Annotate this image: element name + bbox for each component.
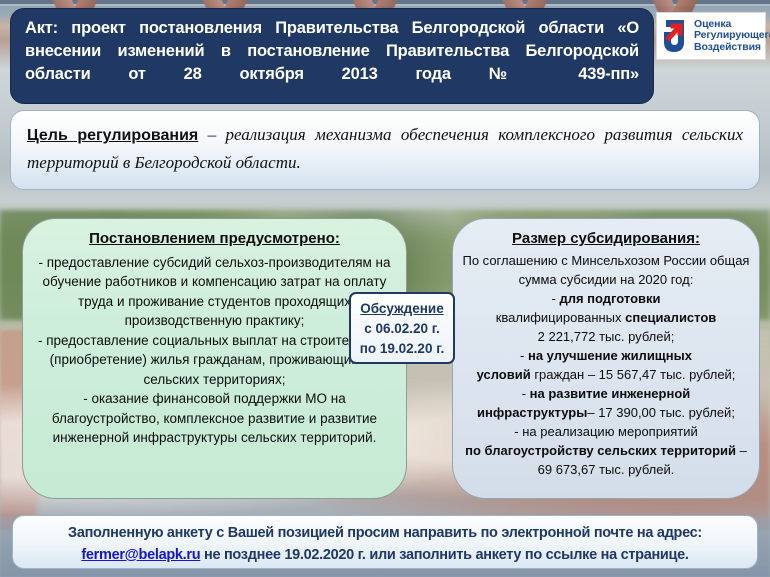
provisions-title: Постановлением предусмотрено:	[33, 229, 396, 249]
discussion-to: по 19.02.20 г.	[360, 341, 444, 356]
subsidy-entry-3: - на развитие инженерной инфраструктуры–…	[461, 384, 751, 422]
goal-box: Цель регулирования – реализация механизм…	[10, 110, 760, 190]
subsidy-entry-4-dash: -	[514, 424, 518, 439]
orv-logo-text: Оценка Регулирующего Воздействия	[694, 19, 770, 54]
subsidy-entry-2-amount: 15 567,47 тыс. рублей;	[599, 367, 736, 382]
footer-line-1: Заполненную анкету с Вашей позицией прос…	[68, 525, 702, 541]
subsidy-entry-4-middle: –	[736, 443, 747, 458]
discussion-from: с 06.02.20 г.	[364, 321, 440, 336]
subsidy-entry-3-amount: 17 390,00 тыс. рублей;	[598, 405, 735, 420]
provisions-item-1: - предоставление субсидий сельхоз-произв…	[33, 253, 396, 331]
subsidy-entry-1-dash: -	[551, 291, 555, 306]
orv-logo-line-2: Регулирующего	[694, 29, 770, 41]
subsidy-entry-3-middle: –	[587, 405, 598, 420]
orv-logo-line-1: Оценка	[694, 18, 731, 30]
subsidy-entry-1-lead: для подготовки	[559, 291, 660, 306]
discussion-title: Обсуждение	[351, 299, 453, 319]
subsidy-entry-1-middle: квалифицированных	[496, 310, 625, 325]
subsidy-entry-2-middle: граждан –	[531, 367, 599, 382]
subsidy-entry-1-amount: 2 221,772 тыс. рублей;	[538, 329, 675, 344]
footer-email-link[interactable]: fermer@belapk.ru	[81, 547, 200, 563]
subsidy-entry-3-lead: на развитие инженерной	[530, 386, 691, 401]
subsidy-entry-2-lead: на улучшение жилищных	[528, 348, 692, 363]
subsidy-title: Размер субсидирования:	[461, 229, 751, 248]
subsidy-entry-4-amount: 69 673,67 тыс. рублей.	[538, 462, 675, 477]
provisions-item-2: - предоставление социальных выплат на ст…	[33, 331, 396, 390]
subsidy-entry-4: - на реализацию мероприятий по благоустр…	[461, 422, 751, 479]
subsidy-entry-1-bold-mid: специалистов	[625, 310, 716, 325]
subsidy-entry-4-lead: на реализацию мероприятий	[522, 424, 698, 439]
footer-contact-bar: Заполненную анкету с Вашей позицией прос…	[12, 515, 758, 569]
subsidy-entry-3-dash: -	[522, 386, 526, 401]
orv-logo-line-3: Воздействия	[694, 41, 761, 53]
goal-label: Цель регулирования	[27, 127, 198, 144]
discussion-callout: Обсуждение с 06.02.20 г. по 19.02.20 г.	[349, 292, 455, 364]
orv-logo: Оценка Регулирующего Воздействия	[656, 12, 766, 60]
subsidy-entry-4-bold-mid: по благоустройству сельских территорий	[465, 443, 736, 458]
subsidy-entry-3-bold-mid: инфраструктуры	[477, 405, 587, 420]
orv-arrow-icon	[660, 16, 690, 56]
subsidy-entry-2-bold-mid: условий	[477, 367, 531, 382]
footer-line-2-tail: не позднее 19.02.2020 г. или заполнить а…	[200, 547, 688, 563]
presentation-slide: Акт: проект постановления Правительства …	[0, 0, 770, 577]
goal-dash: –	[198, 125, 225, 144]
slide-title: Акт: проект постановления Правительства …	[10, 8, 654, 104]
provisions-item-3: - оказание финансовой поддержки МО на бл…	[33, 389, 396, 448]
subsidy-intro: По соглашению с Минсельхозом России обща…	[461, 251, 751, 289]
subsidy-panel: Размер субсидирования: По соглашению с М…	[452, 218, 760, 499]
subsidy-entry-1: - для подготовки квалифицированных специ…	[461, 289, 751, 346]
subsidy-entry-2-dash: -	[520, 348, 524, 363]
subsidy-entry-2: - на улучшение жилищных условий граждан …	[461, 346, 751, 384]
